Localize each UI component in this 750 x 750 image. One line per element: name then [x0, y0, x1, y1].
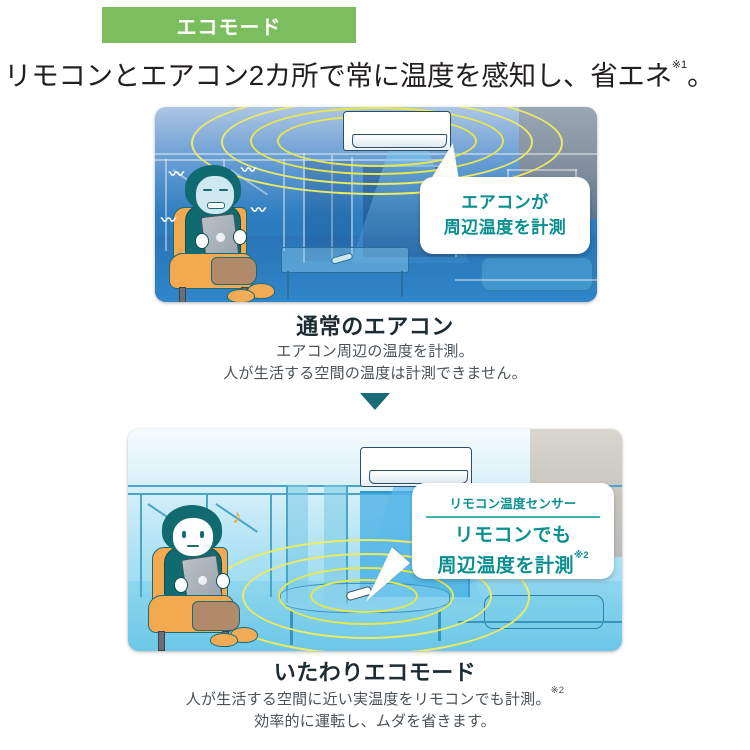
- headline-text: リモコンとエアコン2カ所で常に温度を感知し、省エネ: [4, 53, 672, 93]
- infographic-page: エコモード リモコンとエアコン2カ所で常に温度を感知し、省エネ※1。: [0, 0, 750, 750]
- speech-bubble-line2: 周辺温度を計測: [437, 555, 574, 576]
- caption-line-1: エアコン周辺の温度を計測。: [0, 340, 750, 361]
- speech-bubble-normal-aircon: エアコンが 周辺温度を計測: [420, 177, 590, 254]
- person-shoe: [210, 633, 238, 647]
- speech-bubble-eco-mode: リモコン温度センサー リモコンでも 周辺温度を計測※2: [412, 483, 614, 579]
- caption-line-2: 人が生活する空間の温度は計測できません。: [0, 362, 750, 383]
- shiver-mark-icon: 〰: [251, 203, 266, 218]
- air-conditioner-unit: [360, 447, 472, 487]
- speech-bubble-superscript: ※2: [574, 550, 589, 561]
- caption-line-1: 人が生活する空間に近い実温度をリモコンでも計測。※2: [0, 688, 750, 709]
- person-legs: [192, 601, 240, 631]
- music-note-icon: ♪: [232, 507, 242, 527]
- caption-title-eco-mode: いたわりエコモード: [0, 655, 750, 687]
- caption-title-normal-aircon: 通常のエアコン: [0, 309, 750, 341]
- person-hand: [233, 229, 247, 245]
- person-hand: [195, 233, 209, 249]
- air-conditioner-unit: [343, 111, 451, 151]
- person-legs: [211, 257, 257, 285]
- down-triangle-icon: [360, 393, 390, 410]
- person-face: [195, 175, 235, 215]
- speech-bubble-line2-wrap: 周辺温度を計測※2: [412, 549, 614, 579]
- person-hand: [216, 573, 230, 589]
- shiver-mark-icon: 〰: [161, 213, 176, 228]
- section-badge: エコモード: [102, 7, 356, 43]
- section-badge-label: エコモード: [177, 11, 282, 40]
- speech-bubble-line1: リモコンでも: [412, 518, 614, 549]
- speech-bubble-line1: エアコンが: [420, 177, 590, 215]
- headline-tail: 。: [687, 53, 714, 93]
- person-face: [172, 517, 214, 557]
- air-conditioner-vent: [369, 470, 468, 484]
- person-hand: [174, 577, 188, 593]
- page-headline: リモコンとエアコン2カ所で常に温度を感知し、省エネ※1。: [4, 52, 748, 94]
- shiver-mark-icon: 〰: [169, 167, 184, 182]
- speech-bubble-line2: 周辺温度を計測: [420, 215, 590, 240]
- person-shoe: [227, 289, 255, 302]
- headline-superscript: ※1: [672, 58, 687, 71]
- air-conditioner-vent: [351, 134, 447, 148]
- speech-bubble-header: リモコン温度センサー: [412, 483, 614, 512]
- caption-line-1-superscript: ※2: [551, 685, 565, 696]
- caption-line-2: 効率的に運転し、ムダを省きます。: [0, 710, 750, 731]
- sofa: [481, 257, 593, 291]
- shiver-mark-icon: 〰: [241, 163, 256, 178]
- caption-line-1-text: 人が生活する空間に近い実温度をリモコンでも計測。: [186, 691, 551, 708]
